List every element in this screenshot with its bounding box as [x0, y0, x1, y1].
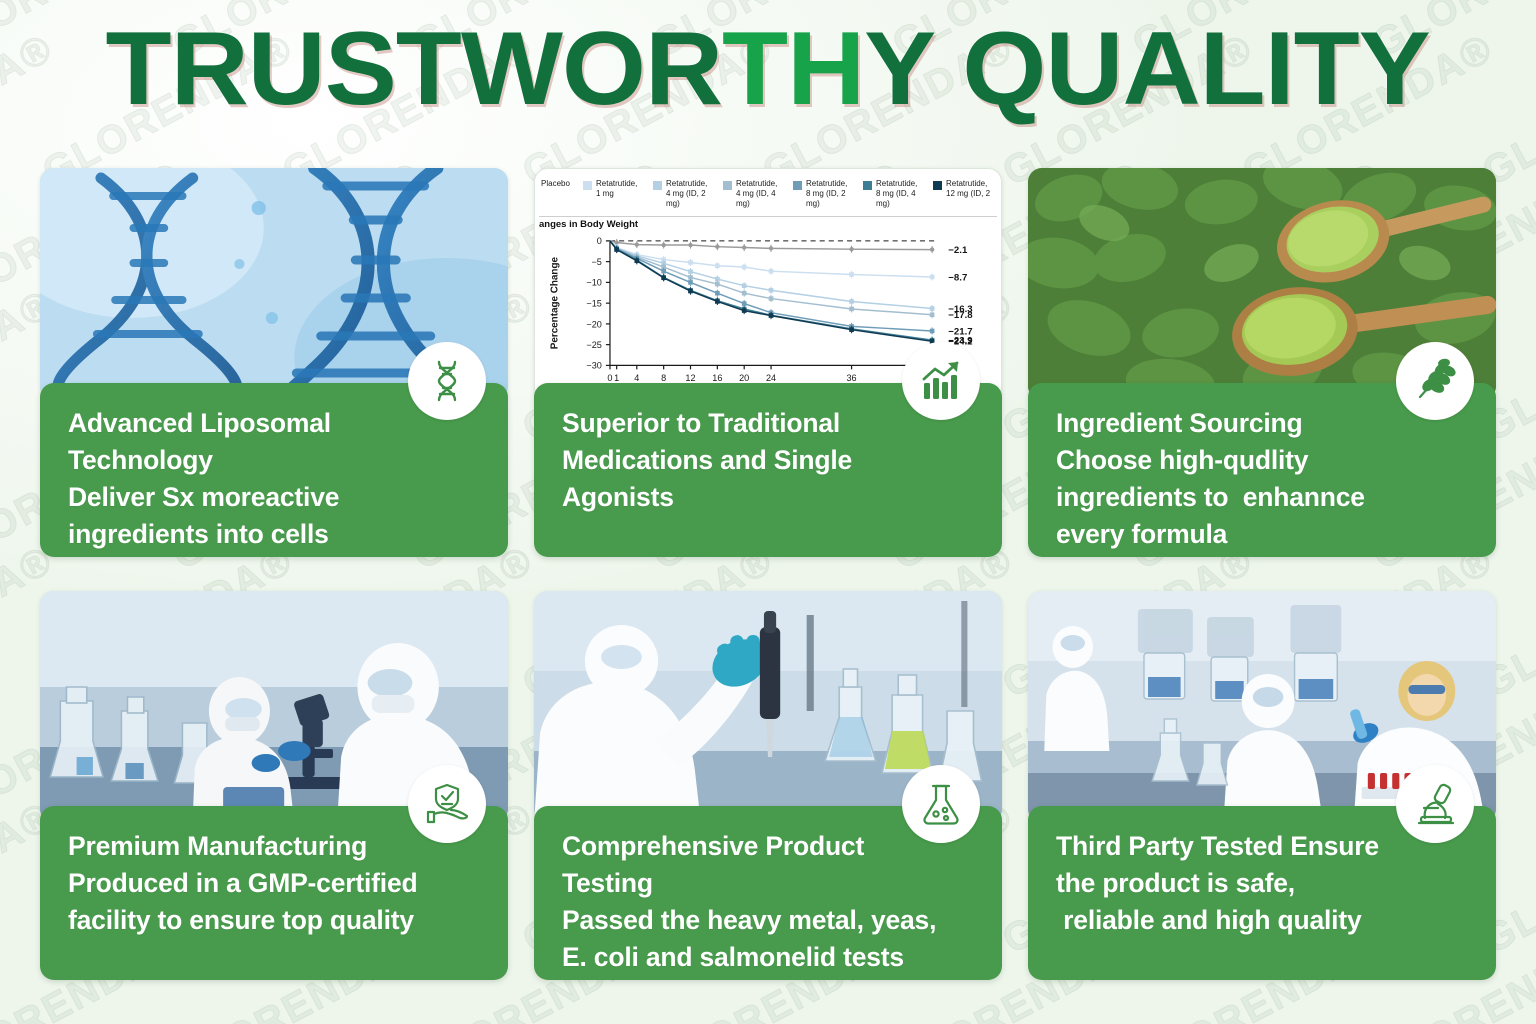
- dna-icon: [423, 357, 471, 405]
- caption-line: Premium Manufacturing: [68, 828, 482, 865]
- svg-text:0: 0: [597, 236, 602, 246]
- caption-line: Deliver Sx moreactive: [68, 479, 482, 516]
- legend-item: Placebo: [541, 179, 575, 189]
- hand-shield-check-icon-badge: [408, 765, 486, 843]
- caption-line: reliable and high quality: [1056, 902, 1470, 939]
- caption-line: Medications and Single: [562, 442, 976, 479]
- svg-text:−17.8: −17.8: [948, 310, 972, 321]
- feature-card-superior-to-traditional-medications[interactable]: Placebo Retatrutide, 1 mg Retatrutide, 4…: [534, 168, 1002, 565]
- svg-text:−15: −15: [586, 299, 601, 309]
- legend-swatch: [863, 181, 872, 190]
- chart-legend: Placebo Retatrutide, 1 mg Retatrutide, 4…: [539, 175, 997, 217]
- caption-line: every formula: [1056, 516, 1470, 553]
- caption-line: Technology: [68, 442, 482, 479]
- legend-swatch: [793, 181, 802, 190]
- caption-line: E. coli and salmonelid tests: [562, 939, 976, 976]
- legend-item: Retatrutide, 8 mg (ID, 2 mg): [793, 179, 855, 209]
- legend-swatch: [583, 181, 592, 190]
- legend-swatch: [653, 181, 662, 190]
- microscope-icon-badge: [1396, 765, 1474, 843]
- svg-text:−8.7: −8.7: [948, 272, 967, 283]
- svg-text:Percentage Change: Percentage Change: [549, 257, 560, 350]
- feature-card-grid: Advanced Liposomal Technology Deliver Sx…: [40, 168, 1496, 988]
- legend-swatch: [723, 181, 732, 190]
- svg-text:−20: −20: [586, 319, 601, 329]
- svg-text:36: 36: [847, 373, 857, 383]
- dna-icon-badge: [408, 342, 486, 420]
- svg-text:4: 4: [634, 373, 639, 383]
- svg-text:0: 0: [607, 373, 612, 383]
- svg-text:16: 16: [712, 373, 722, 383]
- legend-swatch: [933, 181, 942, 190]
- caption-line: Third Party Tested Ensure: [1056, 828, 1470, 865]
- legend-label: Retatrutide, 12 mg (ID, 2: [946, 179, 990, 199]
- svg-text:8: 8: [661, 373, 666, 383]
- legend-label: Placebo: [541, 179, 570, 189]
- caption-line: ingredients to enhannce: [1056, 479, 1470, 516]
- legend-item: Retatrutide, 8 mg (ID, 4 mg): [863, 179, 925, 209]
- caption-line: ingredients into cells: [68, 516, 482, 553]
- caption-line: Produced in a GMP-certified: [68, 865, 482, 902]
- svg-text:24: 24: [766, 373, 776, 383]
- feature-card-third-party-tested[interactable]: Third Party Tested Ensure the product is…: [1028, 591, 1496, 988]
- svg-text:20: 20: [739, 373, 749, 383]
- caption-line: Passed the heavy metal, yeas,: [562, 902, 976, 939]
- hand-shield-check-icon: [423, 780, 471, 828]
- svg-text:12: 12: [685, 373, 695, 383]
- caption-line: Choose high-qudlity: [1056, 442, 1470, 479]
- page-title-part2: Y QUALITY: [865, 11, 1431, 127]
- caption-line: Agonists: [562, 479, 976, 516]
- legend-item: Retatrutide, 1 mg: [583, 179, 645, 199]
- caption-line: the product is safe,: [1056, 865, 1470, 902]
- feature-card-premium-manufacturing[interactable]: Premium Manufacturing Produced in a GMP-…: [40, 591, 508, 988]
- flask-icon: [917, 780, 965, 828]
- legend-item: Retatrutide, 4 mg (ID, 4 mg): [723, 179, 785, 209]
- feature-card-comprehensive-product-testing[interactable]: Comprehensive Product Testing Passed the…: [534, 591, 1002, 988]
- leaf-branch-icon: [1411, 357, 1459, 405]
- legend-item: Retatrutide, 4 mg (ID, 2 mg): [653, 179, 715, 209]
- caption-line: Superior to Traditional: [562, 405, 976, 442]
- feature-card-advanced-liposomal-technology[interactable]: Advanced Liposomal Technology Deliver Sx…: [40, 168, 508, 565]
- svg-text:−25: −25: [586, 340, 601, 350]
- svg-text:−2.1: −2.1: [948, 245, 968, 256]
- growth-chart-icon: [917, 357, 965, 405]
- legend-label: Retatrutide, 4 mg (ID, 4 mg): [736, 179, 785, 209]
- page-title-accent: TH: [722, 11, 864, 127]
- page-title-part1: TRUSTWOR: [106, 11, 723, 127]
- page-title-wrap: TRUSTWORTHY QUALITY: [0, 14, 1536, 124]
- chart-title: anges in Body Weight: [539, 219, 638, 230]
- flask-icon-badge: [902, 765, 980, 843]
- legend-label: Retatrutide, 8 mg (ID, 4 mg): [876, 179, 925, 209]
- feature-card-ingredient-sourcing[interactable]: Ingredient Sourcing Choose high-qudlity …: [1028, 168, 1496, 565]
- caption-line: Advanced Liposomal: [68, 405, 482, 442]
- legend-label: Retatrutide, 1 mg: [596, 179, 637, 199]
- caption-line: Testing: [562, 865, 976, 902]
- legend-item: Retatrutide, 12 mg (ID, 2: [933, 179, 995, 199]
- svg-text:−5: −5: [591, 257, 601, 267]
- caption-line: Comprehensive Product: [562, 828, 976, 865]
- caption-line: Ingredient Sourcing: [1056, 405, 1470, 442]
- svg-text:−10: −10: [586, 278, 601, 288]
- page-title: TRUSTWORTHY QUALITY: [106, 14, 1430, 124]
- legend-label: Retatrutide, 4 mg (ID, 2 mg): [666, 179, 715, 209]
- caption-line: facility to ensure top quality: [68, 902, 482, 939]
- legend-label: Retatrutide, 8 mg (ID, 2 mg): [806, 179, 855, 209]
- leaf-branch-icon-badge: [1396, 342, 1474, 420]
- svg-text:1: 1: [614, 373, 619, 383]
- microscope-icon: [1411, 780, 1459, 828]
- growth-chart-icon-badge: [902, 342, 980, 420]
- svg-text:−30: −30: [586, 361, 601, 371]
